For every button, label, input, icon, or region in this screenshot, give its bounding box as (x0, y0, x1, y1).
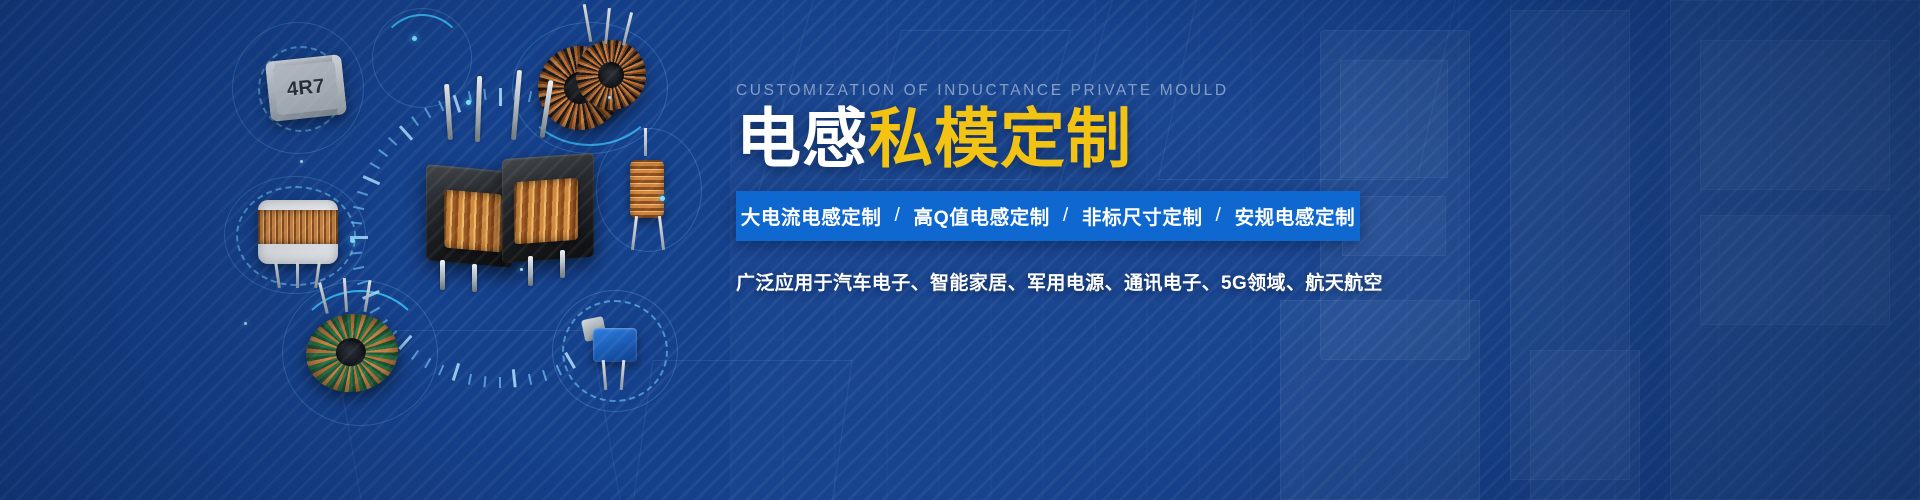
smd-chip-inductor: 4R7 (265, 54, 347, 122)
headline-white-part: 电感 (736, 102, 868, 177)
feature-item-3[interactable]: 安规电感定制 (1235, 201, 1356, 230)
sparkle-icon (300, 160, 303, 163)
glow-node-icon (350, 238, 355, 243)
blue-radial-component (575, 312, 649, 390)
feature-item-2[interactable]: 非标尺寸定制 (1082, 201, 1203, 230)
large-black-common-mode-choke (410, 118, 610, 286)
feature-separator: / (1203, 204, 1235, 227)
sparkle-icon (608, 96, 611, 99)
feature-item-0[interactable]: 大电流电感定制 (741, 201, 882, 230)
product-visual-cluster: 4R7 (0, 0, 740, 500)
page-title: 电感私模定制 (736, 106, 1376, 175)
feature-bar: 大电流电感定制 / 高Q值电感定制 / 非标尺寸定制 / 安规电感定制 (736, 191, 1360, 241)
english-subtitle: CUSTOMIZATION OF INDUCTANCE PRIVATE MOUL… (736, 82, 1376, 100)
glow-node-icon (412, 36, 417, 41)
inductance-banner: 4R7 (0, 0, 1920, 500)
feature-item-1[interactable]: 高Q值电感定制 (914, 201, 1050, 230)
smd-chip-label: 4R7 (273, 61, 340, 115)
green-toroidal-inductor (300, 300, 416, 400)
glow-node-icon (466, 100, 471, 105)
bronze-bobbin-inductor (250, 196, 346, 268)
banner-content: CUSTOMIZATION OF INDUCTANCE PRIVATE MOUL… (736, 82, 1376, 295)
sparkle-icon (244, 322, 247, 325)
sparkle-icon (520, 268, 523, 271)
feature-list: 大电流电感定制 / 高Q值电感定制 / 非标尺寸定制 / 安规电感定制 (741, 201, 1355, 230)
feature-separator: / (882, 204, 914, 227)
feature-separator: / (1050, 204, 1082, 227)
axial-lead-choke (610, 150, 684, 246)
application-tagline: 广泛应用于汽车电子、智能家居、军用电源、通讯电子、5G领域、航天航空 (736, 268, 1376, 295)
headline-gold-part: 私模定制 (868, 102, 1132, 177)
glow-node-icon (660, 196, 665, 201)
